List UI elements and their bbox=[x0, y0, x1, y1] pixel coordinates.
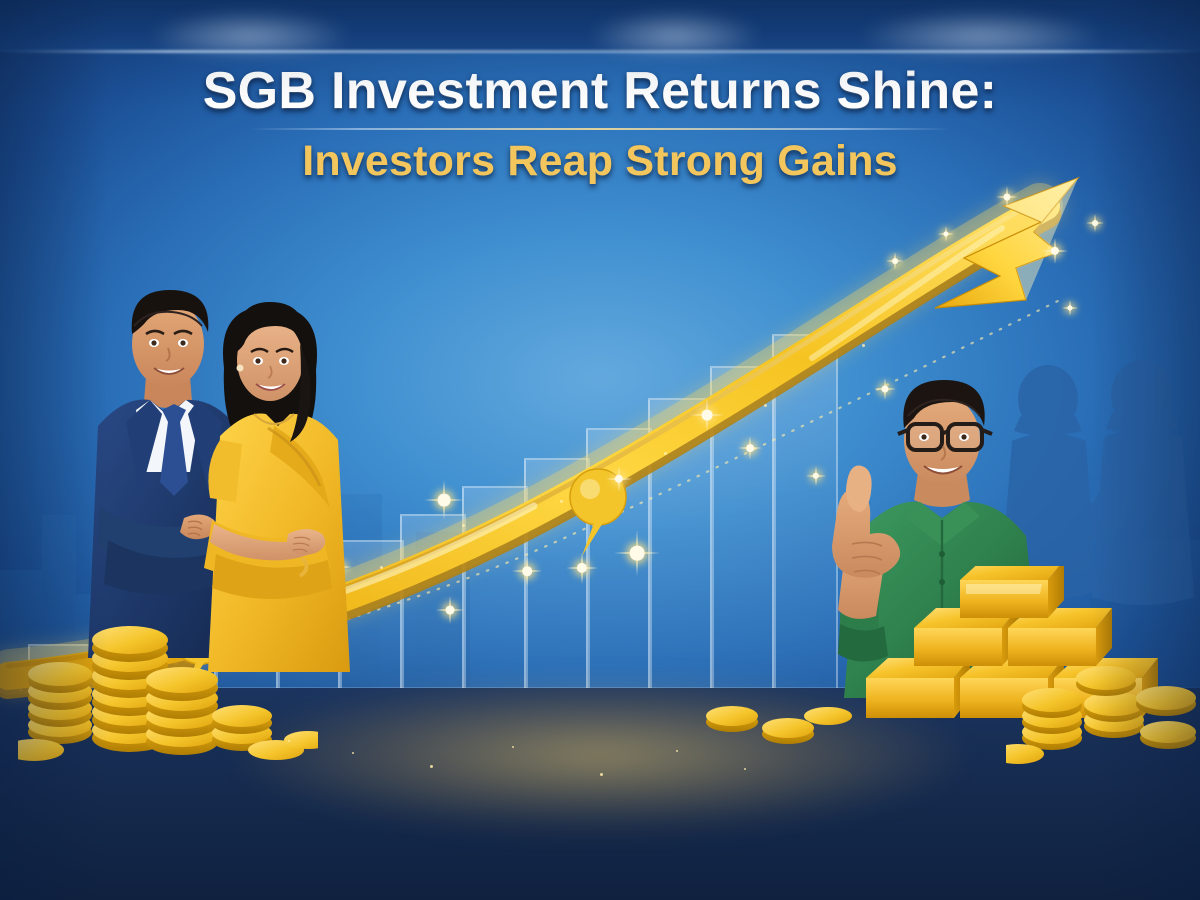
title-block: SGB Investment Returns Shine: Investors … bbox=[0, 64, 1200, 186]
page-subtitle: Investors Reap Strong Gains bbox=[0, 137, 1200, 186]
page-title: SGB Investment Returns Shine: bbox=[0, 64, 1200, 119]
title-divider bbox=[250, 128, 950, 130]
poster-canvas: SGB Investment Returns Shine: Investors … bbox=[0, 0, 1200, 900]
